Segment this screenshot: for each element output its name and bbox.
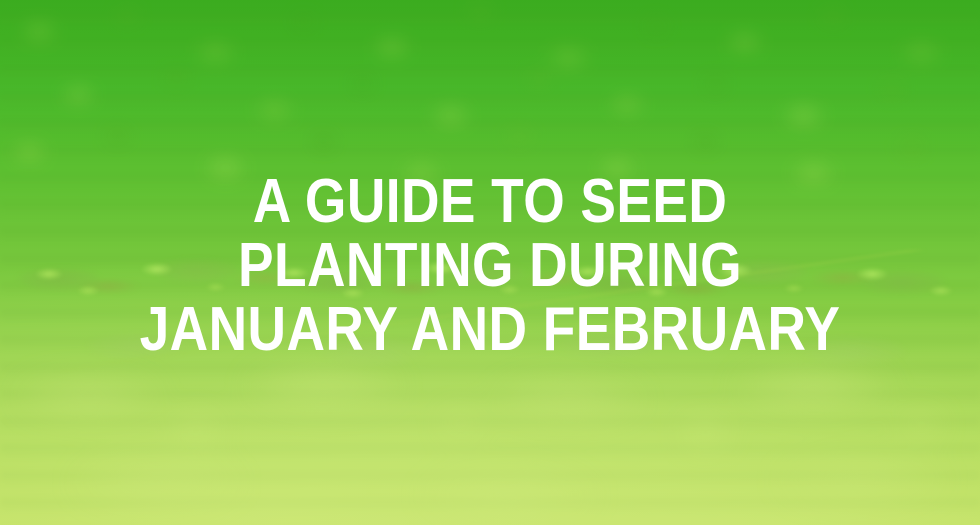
headline-line-3: JANUARY AND FEBRUARY <box>69 298 912 362</box>
headline-line-1: A GUIDE TO SEED <box>69 170 912 234</box>
banner-headline: A GUIDE TO SEED PLANTING DURING JANUARY … <box>69 170 912 362</box>
headline-line-2: PLANTING DURING <box>69 234 912 298</box>
hero-banner: A GUIDE TO SEED PLANTING DURING JANUARY … <box>0 0 980 525</box>
